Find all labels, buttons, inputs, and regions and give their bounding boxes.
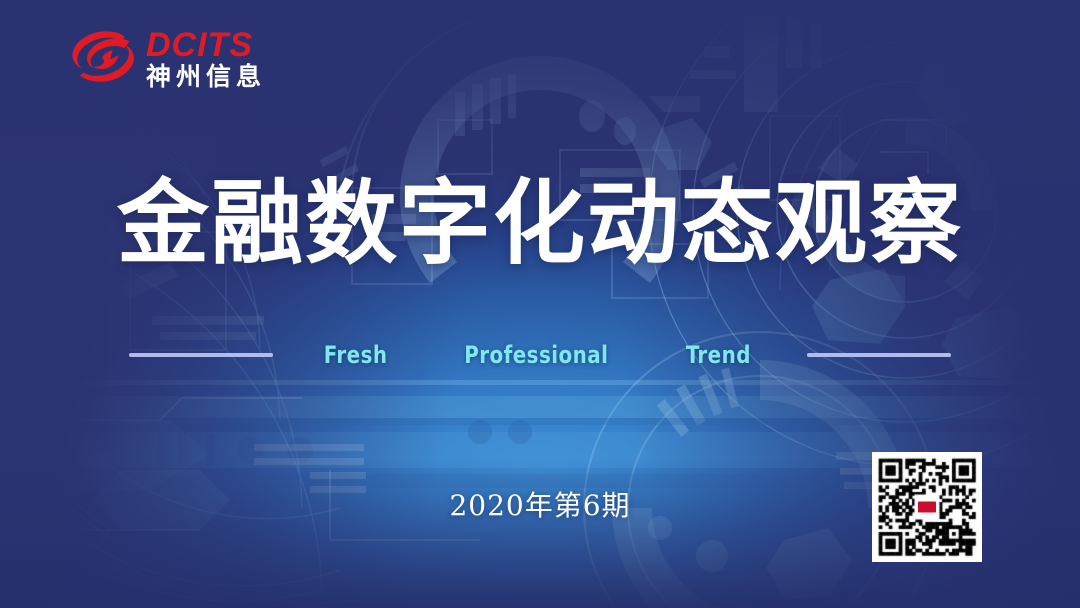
qr-center-logo (916, 500, 938, 515)
brand-logo: DCITS 神州信息 (66, 28, 266, 90)
tagline-rule-right (807, 353, 951, 357)
dcits-swirl-logo-icon (918, 502, 936, 513)
tagline-word-trend: Trend (685, 341, 750, 369)
qr-code[interactable] (872, 452, 982, 562)
brand-name-en: DCITS (146, 28, 266, 62)
page-title: 金融数字化动态观察 (0, 178, 1080, 270)
tagline-word-fresh: Fresh (323, 341, 387, 369)
cover-slide: DCITS 神州信息 金融数字化动态观察 Fresh Professional … (0, 0, 1080, 608)
dcits-swirl-logo-icon (66, 28, 140, 90)
tagline-row: Fresh Professional Trend (0, 341, 1080, 369)
tagline-rule-left (129, 353, 273, 357)
tagline-word-professional: Professional (464, 341, 608, 369)
brand-name-cn: 神州信息 (146, 65, 266, 90)
